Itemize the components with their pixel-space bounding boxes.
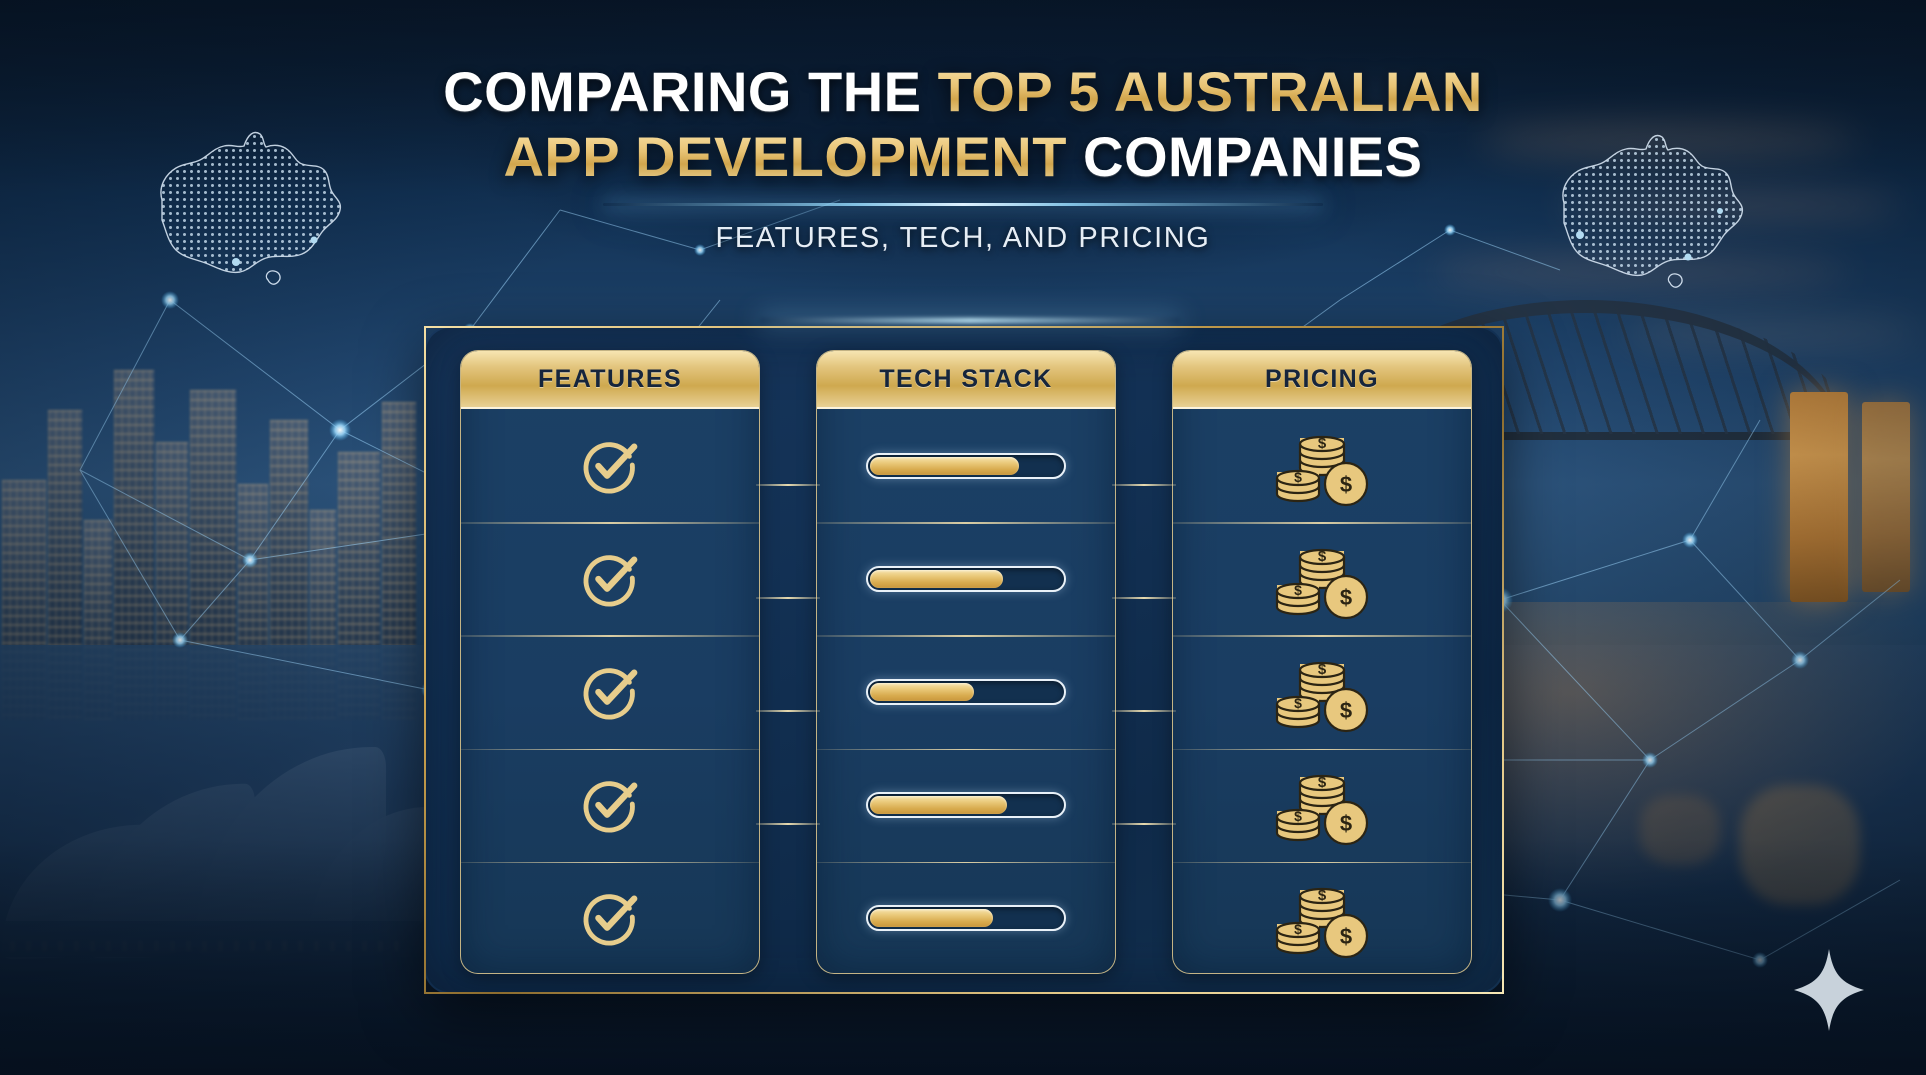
svg-text:$: $ <box>1294 808 1302 824</box>
tech-stack-progress-bar <box>866 792 1066 818</box>
svg-text:$: $ <box>1340 585 1352 610</box>
column-body-features <box>461 409 759 974</box>
svg-text:$: $ <box>1294 921 1302 937</box>
svg-text:$: $ <box>1294 582 1302 598</box>
title-glow-divider <box>603 203 1323 206</box>
svg-text:$: $ <box>1294 695 1302 711</box>
svg-text:$: $ <box>1318 661 1327 678</box>
card-top-glow <box>760 318 1180 323</box>
bridge-pylon <box>1790 392 1848 602</box>
coin-stack-icon: $ $ $ <box>1270 876 1374 960</box>
coin-stack-icon: $ $ $ <box>1270 424 1374 508</box>
table-row <box>461 409 759 522</box>
column-header-label: PRICING <box>1265 365 1379 394</box>
check-circle-icon <box>579 774 641 836</box>
page-subtitle: FEATURES, TECH, AND PRICING <box>0 222 1926 255</box>
table-row: $ $ $ <box>1173 635 1471 748</box>
row-connector <box>1112 597 1176 599</box>
table-row: $ $ $ <box>1173 409 1471 522</box>
tech-stack-progress-bar <box>866 905 1066 931</box>
column-tech-stack: TECH STACK <box>816 350 1116 974</box>
svg-text:$: $ <box>1340 698 1352 723</box>
table-row <box>461 749 759 862</box>
table-row <box>817 862 1115 974</box>
check-circle-icon <box>579 548 641 610</box>
table-row <box>461 522 759 635</box>
row-connector <box>756 597 820 599</box>
column-features: FEATURES <box>460 350 760 974</box>
title-line2-gold: APP DEVELOPMENT <box>503 125 1083 188</box>
table-row <box>817 522 1115 635</box>
column-header-features: FEATURES <box>461 351 759 409</box>
infographic-canvas: COMPARING THE TOP 5 AUSTRALIAN APP DEVEL… <box>0 0 1926 1075</box>
table-row: $ $ $ <box>1173 862 1471 974</box>
row-connector <box>756 484 820 486</box>
svg-text:$: $ <box>1318 774 1327 791</box>
progress-fill <box>870 457 1019 475</box>
column-header-label: TECH STACK <box>879 365 1052 394</box>
svg-text:$: $ <box>1340 472 1352 497</box>
column-header-pricing: PRICING <box>1173 351 1471 409</box>
coin-stack-icon: $ $ $ <box>1270 763 1374 847</box>
svg-text:$: $ <box>1318 548 1327 565</box>
svg-text:$: $ <box>1340 924 1352 949</box>
check-circle-icon <box>579 887 641 949</box>
table-row <box>461 635 759 748</box>
table-row <box>817 409 1115 522</box>
progress-fill <box>870 909 993 927</box>
row-connector <box>1112 823 1176 825</box>
page-header: COMPARING THE TOP 5 AUSTRALIAN APP DEVEL… <box>0 62 1926 255</box>
column-header-tech: TECH STACK <box>817 351 1115 409</box>
bridge-pylon <box>1862 402 1910 592</box>
progress-fill <box>870 683 974 701</box>
table-row: $ $ $ <box>1173 749 1471 862</box>
column-body-pricing: $ $ $ <box>1173 409 1471 974</box>
sparkle-star-icon <box>1792 947 1866 1033</box>
row-connector <box>1112 710 1176 712</box>
title-line-2: APP DEVELOPMENT COMPANIES <box>0 127 1926 186</box>
svg-text:$: $ <box>1318 435 1327 452</box>
title-line1-white: COMPARING THE <box>443 60 937 123</box>
column-pricing: PRICING <box>1172 350 1472 974</box>
title-line-1: COMPARING THE TOP 5 AUSTRALIAN <box>0 62 1926 121</box>
svg-text:$: $ <box>1340 811 1352 836</box>
progress-fill <box>870 570 1003 588</box>
row-connector <box>756 823 820 825</box>
table-row <box>817 635 1115 748</box>
table-row <box>817 749 1115 862</box>
title-line1-gold: TOP 5 AUSTRALIAN <box>938 60 1483 123</box>
row-connector <box>1112 484 1176 486</box>
comparison-card: FEATURES <box>424 326 1504 994</box>
check-circle-icon <box>579 661 641 723</box>
coin-stack-icon: $ $ $ <box>1270 537 1374 621</box>
tech-stack-progress-bar <box>866 679 1066 705</box>
title-line2-white: COMPANIES <box>1083 125 1423 188</box>
svg-text:$: $ <box>1294 469 1302 485</box>
row-connector <box>756 710 820 712</box>
table-row <box>461 862 759 974</box>
tech-stack-progress-bar <box>866 453 1066 479</box>
coin-stack-icon: $ $ $ <box>1270 650 1374 734</box>
column-body-tech <box>817 409 1115 974</box>
svg-text:$: $ <box>1318 887 1327 904</box>
check-circle-icon <box>579 435 641 497</box>
tech-stack-progress-bar <box>866 566 1066 592</box>
column-header-label: FEATURES <box>538 365 682 394</box>
progress-fill <box>870 796 1007 814</box>
table-row: $ $ $ <box>1173 522 1471 635</box>
